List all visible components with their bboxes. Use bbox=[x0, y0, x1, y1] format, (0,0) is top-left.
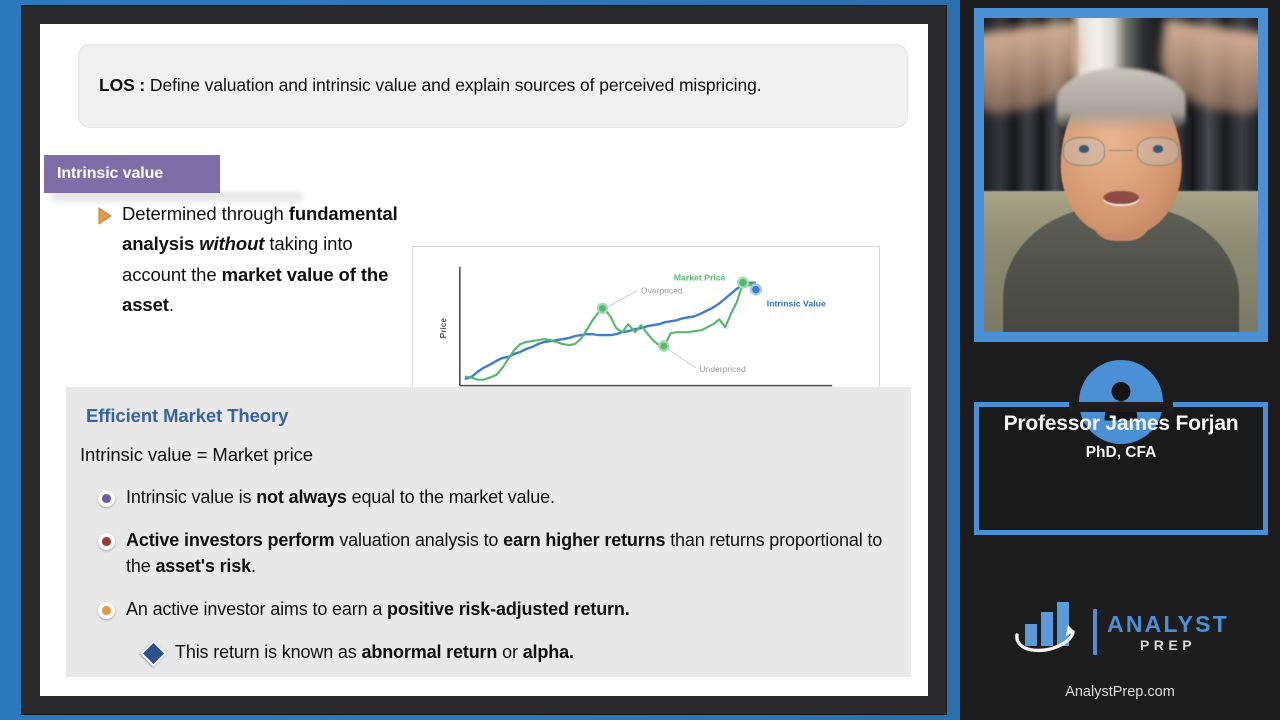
i1-b3: asset's risk bbox=[155, 556, 251, 576]
intrinsic-value-bullet-block: Determined through fundamental analysis … bbox=[98, 199, 418, 320]
list-item: Intrinsic value is not always equal to t… bbox=[98, 485, 888, 511]
i2-b1: positive risk-adjusted return. bbox=[387, 599, 630, 619]
emt-subtitle: Intrinsic value = Market price bbox=[80, 444, 313, 466]
arrow-bullet-icon bbox=[98, 207, 112, 320]
list-item-text: An active investor aims to earn a positi… bbox=[126, 597, 630, 623]
los-label: LOS : bbox=[99, 75, 145, 95]
efficient-market-theory-panel: Efficient Market Theory Intrinsic value … bbox=[66, 387, 911, 677]
instructor-nameplate-group: Professor James Forjan PhD, CFA bbox=[974, 360, 1268, 542]
bullet-dot-icon bbox=[98, 533, 115, 550]
legend-market-price: Market Price bbox=[674, 273, 726, 283]
instructor-video-tile[interactable] bbox=[974, 8, 1268, 342]
i1-p3: . bbox=[251, 556, 256, 576]
s-p2: or bbox=[497, 642, 522, 662]
intrinsic-value-end-marker bbox=[751, 285, 761, 295]
brand-url: AnalystPrep.com bbox=[960, 684, 1280, 700]
section-tab-intrinsic-value: Intrinsic value bbox=[44, 155, 220, 193]
overpriced-leader-line bbox=[608, 291, 637, 307]
arrow-bullet-text: Determined through fundamental analysis … bbox=[122, 199, 418, 320]
list-item: Active investors perform valuation analy… bbox=[98, 528, 888, 580]
chart-ylabel: Price bbox=[438, 318, 448, 339]
los-text: LOS : Define valuation and intrinsic val… bbox=[99, 75, 761, 97]
bullet-dot-icon bbox=[98, 490, 115, 507]
market-price-end-marker bbox=[738, 278, 748, 288]
los-banner: LOS : Define valuation and intrinsic val… bbox=[78, 44, 908, 128]
logo-divider bbox=[1093, 609, 1097, 655]
list-sub-item-text: This return is known as abnormal return … bbox=[175, 640, 574, 666]
s-b1: abnormal return bbox=[361, 642, 497, 662]
instructor-sidebar: Professor James Forjan PhD, CFA bbox=[960, 0, 1280, 720]
i2-p1: An active investor aims to earn a bbox=[126, 599, 387, 619]
overpriced-marker bbox=[598, 304, 607, 313]
screen-root: LOS : Define valuation and intrinsic val… bbox=[0, 0, 1280, 720]
swoosh-icon bbox=[1011, 621, 1083, 660]
underpriced-leader-line bbox=[668, 349, 696, 368]
list-item-text: Active investors perform valuation analy… bbox=[126, 528, 888, 580]
legend-intrinsic-value: Intrinsic Value bbox=[767, 298, 826, 308]
slide-stage: LOS : Define valuation and intrinsic val… bbox=[0, 0, 960, 720]
underpriced-marker bbox=[659, 341, 668, 350]
instructor-video-frame[interactable] bbox=[984, 18, 1258, 332]
brand-logo: ANALYST PREP bbox=[960, 600, 1280, 664]
i1-p1: valuation analysis to bbox=[334, 530, 503, 550]
ab-i1: without bbox=[194, 233, 264, 254]
list-item-text: Intrinsic value is not always equal to t… bbox=[126, 485, 555, 511]
ab-p3: . bbox=[169, 294, 174, 315]
i1-b2: earn higher returns bbox=[503, 530, 665, 550]
annotation-underpriced: Underpriced bbox=[699, 364, 746, 374]
logo-analyst-text: ANALYST bbox=[1107, 613, 1229, 636]
emt-title: Efficient Market Theory bbox=[86, 405, 288, 427]
instructor-name: Professor James Forjan bbox=[974, 412, 1268, 436]
section-tab-label: Intrinsic value bbox=[57, 165, 163, 183]
bullet-dot-icon bbox=[98, 602, 115, 619]
brand-logo-group: ANALYST PREP AnalystPrep.com bbox=[960, 600, 1280, 720]
logo-prep-text: PREP bbox=[1107, 638, 1229, 652]
video-blur-overlay bbox=[984, 18, 1258, 332]
i0-b1: not always bbox=[256, 487, 347, 507]
bar-chart-logo-icon bbox=[1011, 604, 1083, 660]
diamond-bullet-icon bbox=[140, 640, 167, 667]
emt-bullet-list: Intrinsic value is not always equal to t… bbox=[98, 485, 888, 666]
s-b2: alpha. bbox=[523, 642, 574, 662]
s-p1: This return is known as bbox=[175, 642, 361, 662]
annotation-overpriced: Overpriced bbox=[641, 286, 683, 296]
slide-frame: LOS : Define valuation and intrinsic val… bbox=[22, 6, 946, 714]
i1-b1: Active investors perform bbox=[126, 530, 334, 550]
logo-wordmark: ANALYST PREP bbox=[1107, 613, 1229, 652]
i0-p2: equal to the market value. bbox=[347, 487, 555, 507]
list-item: An active investor aims to earn a positi… bbox=[98, 597, 888, 623]
list-sub-item: This return is known as abnormal return … bbox=[144, 640, 888, 666]
instructor-credentials: PhD, CFA bbox=[974, 444, 1268, 462]
los-body: Define valuation and intrinsic value and… bbox=[145, 75, 761, 95]
presentation-slide: LOS : Define valuation and intrinsic val… bbox=[40, 24, 928, 696]
i0-p1: Intrinsic value is bbox=[126, 487, 256, 507]
nameplate-notch bbox=[1069, 402, 1173, 412]
ab-p1: Determined through bbox=[122, 203, 289, 224]
